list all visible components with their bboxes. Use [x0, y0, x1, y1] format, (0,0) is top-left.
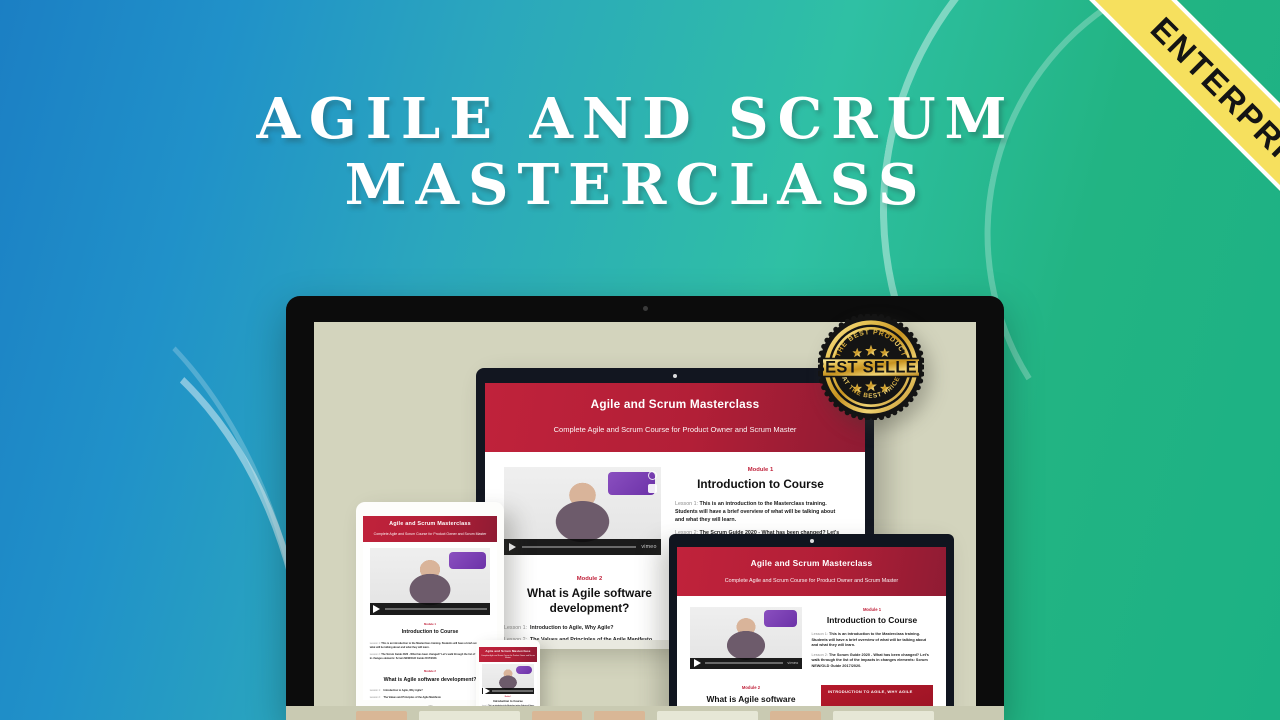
keyboard-key: [532, 711, 583, 720]
course-header: Agile and Scrum Masterclass Complete Agi…: [363, 516, 497, 542]
course-header: Agile and Scrum Masterclass Complete Agi…: [677, 547, 946, 596]
module-heading: Introduction to Course: [675, 478, 846, 493]
video-overlay-badge: [449, 552, 485, 570]
progress-track[interactable]: [705, 662, 783, 664]
video-thumbnail[interactable]: vimeo: [690, 607, 801, 669]
webcam-icon: [643, 306, 648, 311]
module-tag: Module 1: [811, 607, 932, 612]
module-tag: Module 2: [690, 685, 811, 690]
video-player-bar[interactable]: vimeo: [504, 539, 661, 555]
laptop-keyboard: [286, 706, 1004, 720]
paragraph-label: Lesson 2:: [370, 653, 381, 656]
play-icon[interactable]: [483, 687, 490, 694]
paragraph-label: Lesson 1:: [811, 632, 827, 636]
module-heading: What is Agile software development?: [504, 587, 675, 616]
module-text: Module 2 What is Agile software developm…: [370, 670, 491, 700]
module-paragraph: Lesson 2: The Scrum Guide 2020 - What ha…: [370, 653, 491, 661]
module-text: Module 2 What is Agile software developm…: [690, 685, 811, 708]
course-header: Agile and Scrum Masterclass Complete Agi…: [485, 383, 865, 452]
video-overlay-icons[interactable]: [648, 471, 657, 493]
paragraph-text: This is an introduction to the Mastercla…: [811, 632, 926, 647]
progress-track[interactable]: [492, 690, 532, 692]
paragraph-text: The Scrum Guide 2020 - What has been cha…: [370, 653, 490, 660]
lesson-number: Lesson 1:: [504, 625, 527, 632]
course-title: Agile and Scrum Masterclass: [496, 398, 853, 411]
info-icon[interactable]: [648, 471, 657, 480]
play-icon[interactable]: [694, 659, 701, 667]
play-icon[interactable]: [509, 543, 516, 551]
module-row: vimeo Module 1 Introduction to Course Le…: [690, 607, 932, 674]
progress-track[interactable]: [385, 608, 487, 610]
share-icon[interactable]: [648, 484, 657, 493]
module-tag: Module 1: [482, 697, 534, 698]
course-subtitle: Complete Agile and Scrum Course for Prod…: [496, 425, 853, 434]
module-text: Module 2 What is Agile software developm…: [504, 576, 675, 640]
lesson-list: Lesson 1:Introduction to Agile, Why Agil…: [370, 689, 491, 700]
paragraph-label: Lesson 1:: [370, 642, 381, 645]
badge-center-text: BEST SELLER: [818, 358, 924, 376]
keyboard-key: [770, 711, 821, 720]
module-paragraph: Lesson 1: This is an introduction to the…: [811, 632, 932, 649]
video-thumbnail[interactable]: [482, 664, 534, 693]
lesson-title: Introduction to Agile, Why Agile?: [530, 625, 613, 632]
lesson-number: Lesson 1:: [370, 689, 381, 692]
module-tag: Module 1: [675, 467, 846, 473]
keyboard-key: [356, 711, 407, 720]
module-tag: Module 2: [370, 670, 491, 673]
video-thumbnail[interactable]: vimeo: [504, 467, 661, 555]
module-heading: What is Agile software development?: [370, 677, 491, 684]
video-player-bar[interactable]: [482, 688, 534, 693]
keyboard-key: [419, 711, 520, 720]
module-paragraph: Lesson 1: This is an introduction to the…: [675, 501, 846, 525]
course-title: Agile and Scrum Masterclass: [685, 558, 938, 568]
paragraph-label: Lesson 2:: [811, 653, 827, 657]
module-heading: Introduction to Course: [811, 615, 932, 626]
lesson-title: Introduction to Agile, Why Agile?: [384, 689, 423, 692]
player-logo: vimeo: [641, 544, 656, 550]
paragraph-text: This is an introduction to the Mastercla…: [370, 642, 487, 649]
course-title: Agile and Scrum Masterclass: [481, 649, 536, 653]
ribbon-band: ENTERPRISE: [1018, 0, 1280, 325]
module-media: vimeo: [690, 607, 801, 669]
list-item: Lesson 1:Introduction to Agile, Why Agil…: [370, 689, 491, 692]
play-icon[interactable]: [373, 605, 380, 613]
keyboard-key: [657, 711, 758, 720]
video-thumbnail[interactable]: INTRODUCTION TO AGILE, WHY AGILE: [821, 685, 932, 708]
video-thumbnail[interactable]: [370, 548, 491, 616]
course-subtitle: Complete Agile and Scrum Course for Prod…: [685, 578, 938, 584]
module-media: [482, 664, 534, 693]
module-media: vimeo: [504, 467, 661, 555]
module-text: Module 1 Introduction to Course Lesson 1…: [811, 607, 932, 674]
poster-canvas: AGILE AND SCRUM MASTERCLASS ENTERPRISE A…: [0, 0, 1280, 720]
video-overlay-badge: [516, 666, 532, 674]
video-player-bar[interactable]: vimeo: [690, 658, 801, 669]
module-tag: Module 1: [370, 623, 491, 626]
video-caption: INTRODUCTION TO AGILE, WHY AGILE: [828, 690, 917, 695]
course-page-monitor: Agile and Scrum Masterclass Complete Agi…: [677, 547, 946, 708]
lesson-number: Lesson 2:: [370, 696, 381, 699]
keyboard-key: [833, 711, 934, 720]
module-text: Module 1 Introduction to Course Lesson 1…: [370, 623, 491, 661]
device-laptop-webcam-icon: [673, 374, 677, 378]
progress-track[interactable]: [522, 546, 636, 548]
lesson-list: Lesson 1:Introduction to Agile, Why Agil…: [504, 625, 675, 640]
paragraph-text: The Scrum Guide 2020 - What has been cha…: [811, 653, 928, 668]
module-heading: Introduction to Course: [370, 629, 491, 636]
ribbon-label: ENTERPRISE: [1143, 10, 1280, 200]
video-player-bar[interactable]: [370, 603, 491, 615]
list-item: Lesson 1:Introduction to Agile, Why Agil…: [504, 625, 675, 632]
module-paragraph: Lesson 1: This is an introduction to the…: [370, 642, 491, 650]
course-subtitle: Complete Agile and Scrum Course for Prod…: [481, 655, 536, 659]
module-row: INTRODUCTION TO AGILE, WHY AGILE Module …: [690, 685, 932, 708]
lesson-title: The Values and Principles of the Agile M…: [384, 696, 441, 699]
course-body: vimeo Module 1 Introduction to Course Le…: [677, 596, 946, 708]
module-heading: Introduction to Course: [482, 700, 534, 703]
course-header: Agile and Scrum Masterclass Complete Agi…: [479, 647, 537, 662]
course-subtitle: Complete Agile and Scrum Course for Prod…: [367, 532, 493, 536]
player-logo: vimeo: [787, 661, 798, 665]
device-monitor: Agile and Scrum Masterclass Complete Agi…: [669, 534, 954, 716]
module-tag: Module 2: [504, 576, 675, 582]
best-seller-badge: BEST SELLER THE BEST PRODUCT AT THE BEST…: [818, 314, 924, 420]
course-title: Agile and Scrum Masterclass: [367, 521, 493, 527]
module-paragraph: Lesson 2: The Scrum Guide 2020 - What ha…: [811, 653, 932, 670]
list-item: Lesson 2:The Values and Principles of th…: [370, 696, 491, 699]
device-monitor-webcam-icon: [810, 539, 814, 543]
paragraph-label: Lesson 1:: [675, 501, 698, 507]
paragraph-text: This is an introduction to the Mastercla…: [675, 501, 835, 523]
module-media: [370, 548, 491, 616]
device-monitor-screen: Agile and Scrum Masterclass Complete Agi…: [677, 547, 946, 708]
page-title-line-1: AGILE AND SCRUM: [256, 86, 1015, 152]
keyboard-key: [594, 711, 645, 720]
video-overlay-badge: [764, 610, 797, 626]
module-media: INTRODUCTION TO AGILE, WHY AGILE: [821, 685, 932, 708]
